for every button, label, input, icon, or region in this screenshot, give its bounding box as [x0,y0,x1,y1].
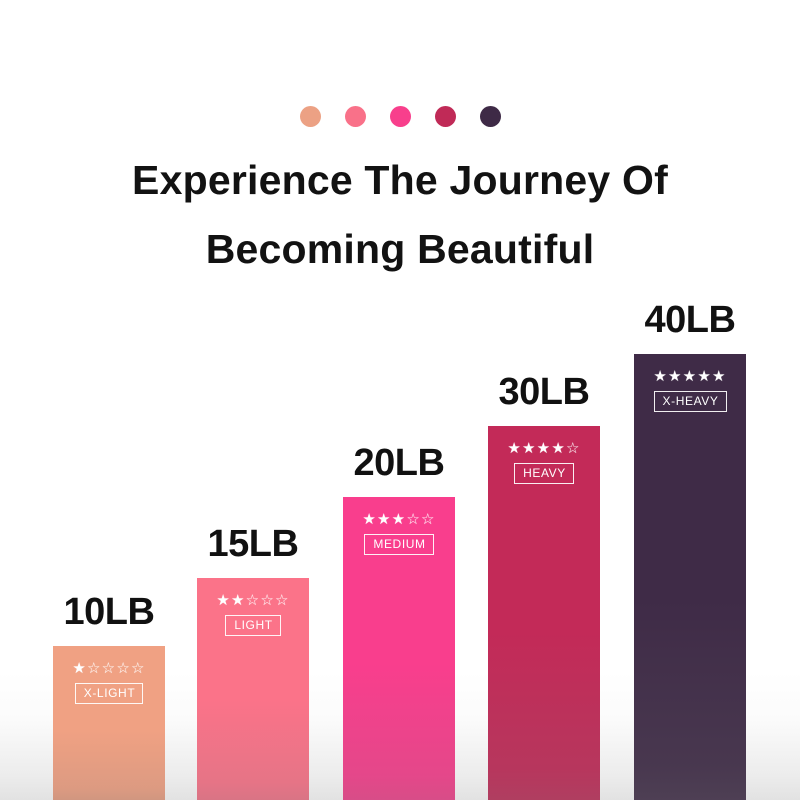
star-rating-icon: ★★★★★ [634,368,746,385]
star-rating-icon: ★★★☆☆ [343,511,455,528]
tier-label-x-light: X-LIGHT [75,683,144,704]
star-rating-icon: ★★★★☆ [488,440,600,457]
tier-label-medium: MEDIUM [364,534,433,555]
bar-30lb[interactable]: ★★★★☆HEAVY [488,426,600,800]
bar-weight-label-30lb: 30LB [499,371,590,414]
star-empty-icon: ☆☆☆☆ [87,660,146,677]
resistance-band-infographic: Experience The Journey Of Becoming Beaut… [0,0,800,800]
star-filled-icon: ★★ [216,592,245,609]
tier-label-x-heavy: X-HEAVY [654,391,727,412]
star-rating-icon: ★☆☆☆☆ [53,660,165,677]
bar-badge-30lb: ★★★★☆HEAVY [488,440,600,484]
bar-15lb[interactable]: ★★☆☆☆LIGHT [197,578,309,800]
star-empty-icon: ☆☆☆ [246,592,290,609]
tier-label-light: LIGHT [225,615,280,636]
bar-40lb[interactable]: ★★★★★X-HEAVY [634,354,746,800]
bar-badge-40lb: ★★★★★X-HEAVY [634,368,746,412]
bar-weight-label-40lb: 40LB [645,299,736,342]
bar-badge-20lb: ★★★☆☆MEDIUM [343,511,455,555]
bar-20lb[interactable]: ★★★☆☆MEDIUM [343,497,455,800]
star-filled-icon: ★★★★★ [653,368,726,385]
star-filled-icon: ★ [72,660,87,677]
bar-weight-label-15lb: 15LB [208,523,299,566]
resistance-bar-chart: 10LB★☆☆☆☆X-LIGHT15LB★★☆☆☆LIGHT20LB★★★☆☆M… [0,0,800,800]
star-empty-icon: ☆ [566,440,581,457]
star-filled-icon: ★★★★ [507,440,566,457]
star-filled-icon: ★★★ [362,511,406,528]
bar-badge-15lb: ★★☆☆☆LIGHT [197,592,309,636]
bar-weight-label-10lb: 10LB [64,591,155,634]
bar-badge-10lb: ★☆☆☆☆X-LIGHT [53,660,165,704]
bar-10lb[interactable]: ★☆☆☆☆X-LIGHT [53,646,165,800]
star-empty-icon: ☆☆ [406,511,435,528]
bar-weight-label-20lb: 20LB [354,442,445,485]
star-rating-icon: ★★☆☆☆ [197,592,309,609]
tier-label-heavy: HEAVY [514,463,574,484]
